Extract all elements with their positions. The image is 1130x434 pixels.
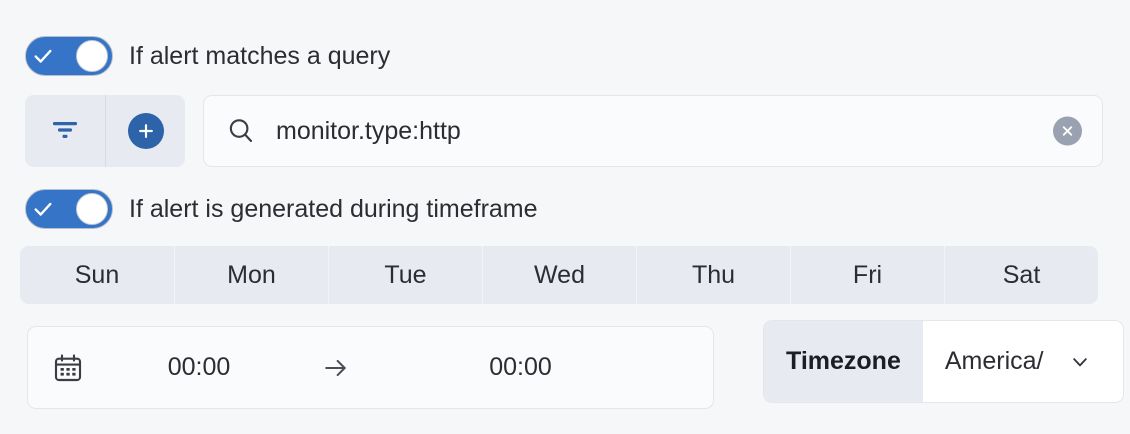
plus-circle-icon — [128, 113, 164, 149]
timezone-select[interactable]: America/ — [923, 321, 1123, 402]
query-input-row: monitor.type:http — [25, 95, 1103, 167]
day-button-tue[interactable]: Tue — [328, 246, 482, 304]
toggle-knob — [76, 193, 108, 225]
timeframe-condition-toggle[interactable] — [25, 189, 113, 229]
calendar-icon — [52, 352, 84, 384]
timezone-value: America/ — [945, 347, 1057, 376]
filter-button[interactable] — [25, 95, 105, 167]
timeframe-condition-label: If alert is generated during timeframe — [129, 195, 538, 224]
time-range-start[interactable]: 00:00 — [84, 353, 314, 382]
query-search-value: monitor.type:http — [276, 117, 461, 146]
time-range-end[interactable]: 00:00 — [358, 353, 713, 382]
search-icon — [226, 116, 256, 146]
time-range-field[interactable]: 00:00 00:00 — [27, 326, 714, 409]
alert-conditions-panel: If alert matches a query — [0, 0, 1130, 434]
timezone-label: Timezone — [764, 321, 923, 402]
arrow-right-icon — [314, 355, 358, 381]
filter-icon — [51, 118, 79, 145]
chevron-down-icon — [1067, 352, 1093, 372]
query-condition-toggle-row: If alert matches a query — [25, 36, 390, 76]
day-button-fri[interactable]: Fri — [790, 246, 944, 304]
day-button-wed[interactable]: Wed — [482, 246, 636, 304]
timeframe-condition-toggle-row: If alert is generated during timeframe — [25, 189, 538, 229]
day-button-sat[interactable]: Sat — [944, 246, 1098, 304]
check-icon — [30, 45, 56, 67]
query-condition-toggle[interactable] — [25, 36, 113, 76]
query-button-group — [25, 95, 185, 167]
day-button-sun[interactable]: Sun — [20, 246, 174, 304]
day-button-mon[interactable]: Mon — [174, 246, 328, 304]
toggle-knob — [76, 40, 108, 72]
query-condition-label: If alert matches a query — [129, 42, 390, 71]
close-circle-icon[interactable] — [1053, 117, 1082, 146]
timezone-control: Timezone America/ — [763, 320, 1124, 403]
check-icon — [30, 198, 56, 220]
add-query-button[interactable] — [105, 95, 185, 167]
day-of-week-selector: Sun Mon Tue Wed Thu Fri Sat — [20, 246, 1098, 304]
day-button-thu[interactable]: Thu — [636, 246, 790, 304]
query-search-field[interactable]: monitor.type:http — [203, 95, 1103, 167]
